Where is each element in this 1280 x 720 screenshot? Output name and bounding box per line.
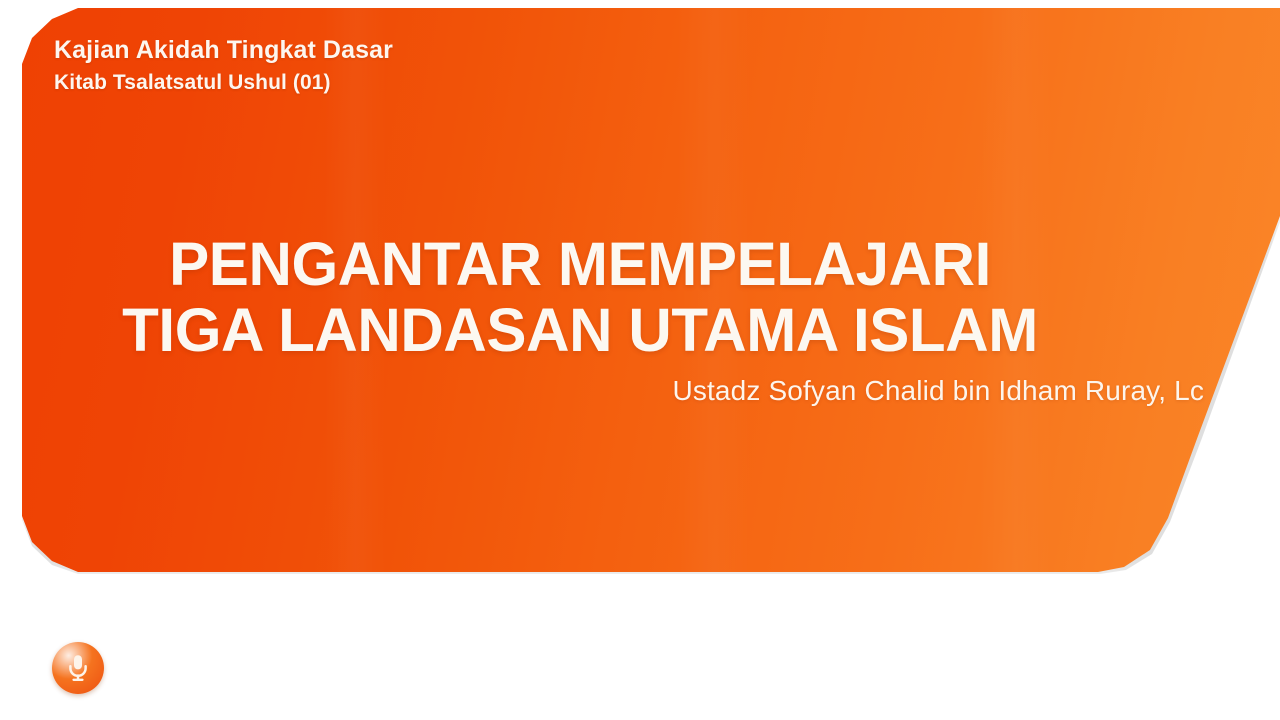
page-title: PENGANTAR MEMPELAJARI TIGA LANDASAN UTAM…	[0, 231, 1160, 363]
kicker-book-title: Kitab Tsalatsatul Ushul (01)	[54, 69, 393, 96]
microphone-icon	[65, 653, 91, 683]
headline-line-2: TIGA LANDASAN UTAMA ISLAM	[9, 297, 1152, 363]
kicker-series-title: Kajian Akidah Tingkat Dasar	[54, 34, 393, 66]
kicker-block: Kajian Akidah Tingkat Dasar Kitab Tsalat…	[54, 34, 393, 96]
headline-line-1: PENGANTAR MEMPELAJARI	[9, 231, 1152, 297]
microphone-badge	[52, 642, 104, 694]
speaker-name: Ustadz Sofyan Chalid bin Idham Ruray, Lc	[672, 375, 1204, 407]
